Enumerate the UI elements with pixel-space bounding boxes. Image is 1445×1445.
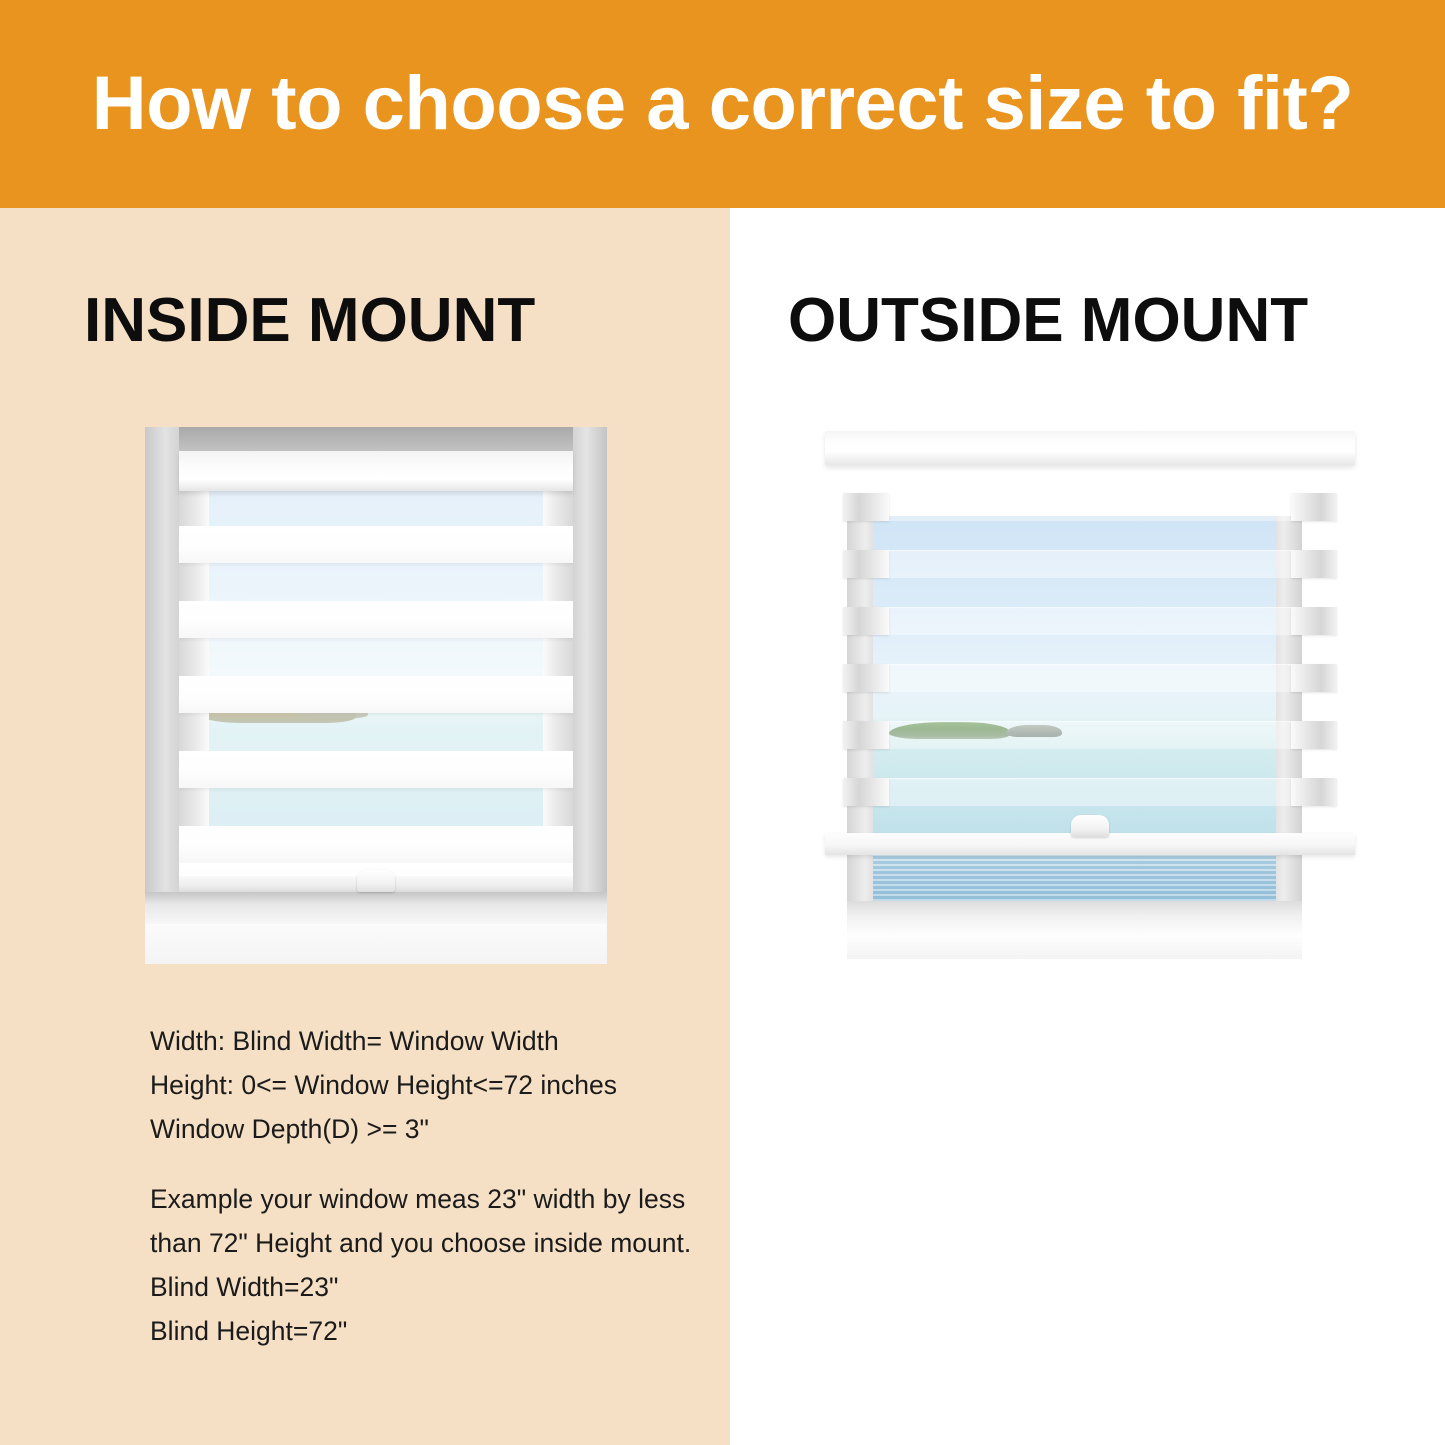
blind-side-rail-left (179, 563, 209, 600)
comparison-panels: INSIDE MOUNT (0, 208, 1445, 1445)
window-jamb-left (145, 427, 179, 964)
window-top-reveal (145, 427, 607, 451)
blind-opaque-band (179, 826, 573, 863)
blind-slat-strip (843, 550, 1337, 578)
blind-side-rail-right (1291, 493, 1337, 521)
blind-sheer-band (889, 493, 1291, 521)
blind-slat-strip (843, 493, 1337, 521)
blind-side-rail-left (179, 638, 209, 675)
blind-opaque-band (179, 676, 573, 713)
blind-side-rail-right (543, 488, 573, 525)
spec-line: Height: 0<= Window Height<=72 inches (150, 1063, 710, 1107)
blind-side-rail-right (1291, 664, 1337, 692)
blind-side-rail-right (543, 788, 573, 825)
blind-side-rail-right (1291, 607, 1337, 635)
page-header-banner: How to choose a correct size to fit? (0, 0, 1445, 208)
blind-sheer-band (889, 721, 1291, 749)
blind-side-rail-left (843, 721, 889, 749)
window-jamb-right (573, 427, 607, 964)
blind-side-rail-right (543, 563, 573, 600)
blind-side-rail-left (843, 607, 889, 635)
blind-slat-strip (843, 607, 1337, 635)
blind-sheer-band (889, 778, 1291, 806)
blind-opaque-band (179, 601, 573, 638)
outside-mount-window-illustration (825, 421, 1355, 969)
inside-mount-specs: Width: Blind Width= Window Width Height:… (150, 1019, 710, 1151)
blind-side-rail-right (1291, 550, 1337, 578)
blind-side-rail-right (543, 713, 573, 750)
outside-mount-panel: OUTSIDE MOUNT (730, 208, 1445, 1445)
blind-side-rail-left (179, 713, 209, 750)
blind-pull-handle[interactable] (1071, 815, 1109, 837)
blind-side-rail-right (1291, 721, 1337, 749)
blind-sheer-band (889, 550, 1291, 578)
spec-line: Width: Blind Width= Window Width (150, 1019, 710, 1063)
outside-mount-heading: OUTSIDE MOUNT (788, 290, 1308, 352)
spec-line: Window Depth(D) >= 3" (150, 1107, 710, 1151)
inside-mount-example: Example your window meas 23" width by le… (150, 1177, 710, 1353)
window-sill (145, 892, 607, 964)
example-line: Blind Width=23" (150, 1265, 710, 1309)
window-glass-area (179, 451, 573, 892)
blind-sheer-band (889, 607, 1291, 635)
blind-pull-handle[interactable] (357, 870, 395, 892)
blind-sheer-band (889, 664, 1291, 692)
example-line: Example your window meas 23" width by le… (150, 1177, 710, 1265)
blind-side-rail-right (543, 638, 573, 675)
blind-side-rail-left (843, 664, 889, 692)
blind-side-rail-left (179, 788, 209, 825)
blind-opaque-band (179, 751, 573, 788)
blind-side-rail-left (843, 778, 889, 806)
inside-mount-window-illustration (145, 427, 607, 964)
window-sill-front (145, 924, 607, 964)
blind-headrail (825, 431, 1355, 465)
page-title: How to choose a correct size to fit? (92, 66, 1354, 142)
inside-mount-heading: INSIDE MOUNT (84, 290, 535, 352)
blind-slat-strip (843, 664, 1337, 692)
window-sill (847, 901, 1302, 959)
blind-opaque-band (179, 526, 573, 563)
blind-side-rail-left (843, 493, 889, 521)
example-line: Blind Height=72" (150, 1309, 710, 1353)
blind-side-rail-left (843, 550, 889, 578)
blind-slat-strip (843, 721, 1337, 749)
zebra-blind-fabric (179, 451, 573, 892)
blind-side-rail-right (1291, 778, 1337, 806)
blind-side-rail-left (179, 488, 209, 525)
inside-mount-panel: INSIDE MOUNT (0, 208, 730, 1445)
blind-slat-strip (843, 778, 1337, 806)
blind-headrail (179, 451, 573, 491)
size-guide-page: How to choose a correct size to fit? INS… (0, 0, 1445, 1445)
